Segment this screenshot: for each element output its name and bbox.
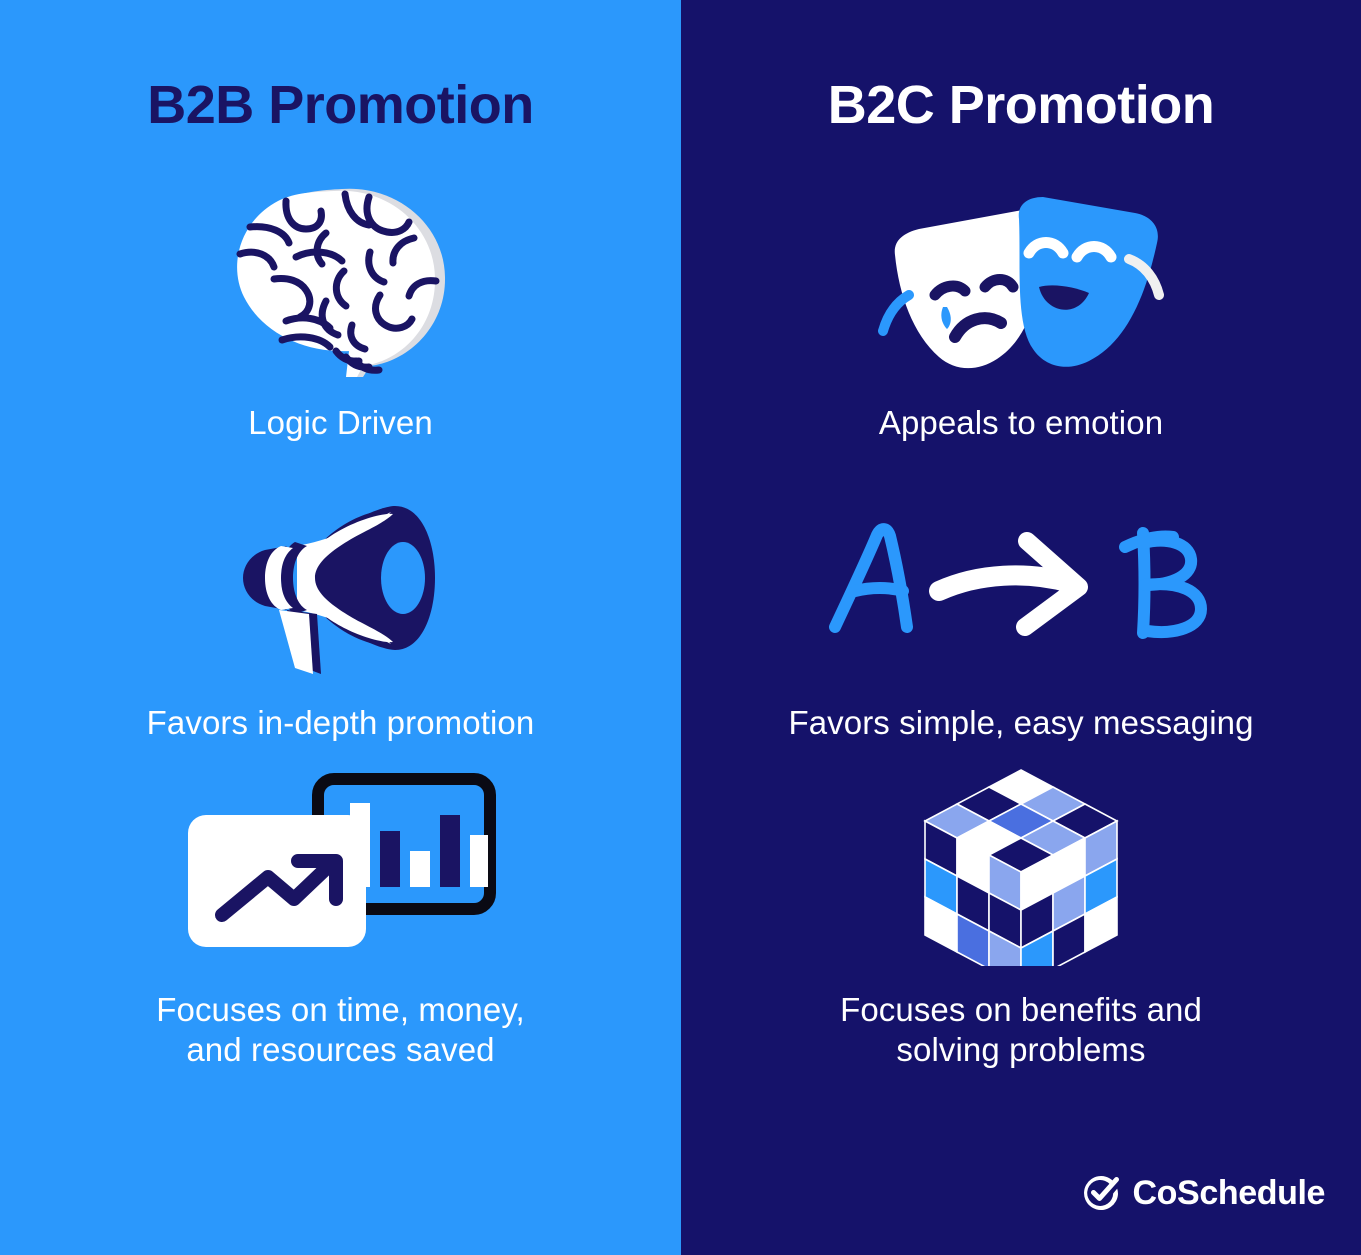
b2c-caption-appeals-to-emotion: Appeals to emotion [879, 403, 1163, 443]
b2b-panel: B2B Promotion [0, 0, 681, 1255]
b2c-caption-simple-messaging: Favors simple, easy messaging [788, 703, 1253, 743]
rubiks-cube-icon [923, 766, 1119, 966]
coschedule-wordmark: CoSchedule [1133, 1174, 1325, 1213]
b2b-item-logic-driven: Logic Driven [0, 132, 681, 443]
b2c-item-simple-messaging: Favors simple, easy messaging [681, 443, 1361, 743]
a-to-b-arrow-icon [823, 517, 1219, 657]
theater-masks-icon-wrap [873, 180, 1169, 385]
right-arrow-icon [939, 541, 1079, 627]
theater-masks-icon [873, 191, 1169, 375]
b2b-caption-logic-driven: Logic Driven [248, 403, 433, 443]
megaphone-icon [235, 498, 447, 676]
b2c-panel: B2C Promotion [681, 0, 1361, 1255]
a-to-b-arrow-icon-wrap [823, 487, 1219, 687]
chart-growth-icon-wrap [182, 766, 500, 966]
b2b-vs-b2c-promotion-infographic: B2B Promotion [0, 0, 1361, 1255]
coschedule-brand-lockup: CoSchedule [1082, 1174, 1325, 1213]
b2b-item-in-depth-promotion: Favors in-depth promotion [0, 443, 681, 743]
b2b-item-time-money-resources: Focuses on time, money, and resources sa… [0, 744, 681, 1071]
b2c-item-benefits-solving-problems: Focuses on benefits and solving problems [681, 744, 1361, 1071]
b2b-caption-line-2: and resources saved [156, 1030, 525, 1070]
b2c-caption-benefits-solving-problems: Focuses on benefits and solving problems [840, 990, 1202, 1071]
rubiks-cube-icon-wrap [923, 766, 1119, 966]
b2c-item-appeals-to-emotion: Appeals to emotion [681, 132, 1361, 443]
chart-growth-icon [182, 773, 500, 958]
b2b-caption-time-money-resources: Focuses on time, money, and resources sa… [156, 990, 525, 1071]
b2c-caption-line-1: Focuses on benefits and [840, 990, 1202, 1030]
brain-icon [230, 185, 452, 380]
brain-icon-wrap [230, 180, 452, 385]
coschedule-check-circle-icon [1082, 1175, 1120, 1213]
b2b-panel-title: B2B Promotion [147, 0, 534, 132]
b2b-caption-in-depth-promotion: Favors in-depth promotion [147, 703, 535, 743]
b2c-panel-title: B2C Promotion [828, 0, 1215, 132]
b2c-caption-line-2: solving problems [840, 1030, 1202, 1070]
b2b-caption-line-1: Focuses on time, money, [156, 990, 525, 1030]
megaphone-icon-wrap [235, 487, 447, 687]
